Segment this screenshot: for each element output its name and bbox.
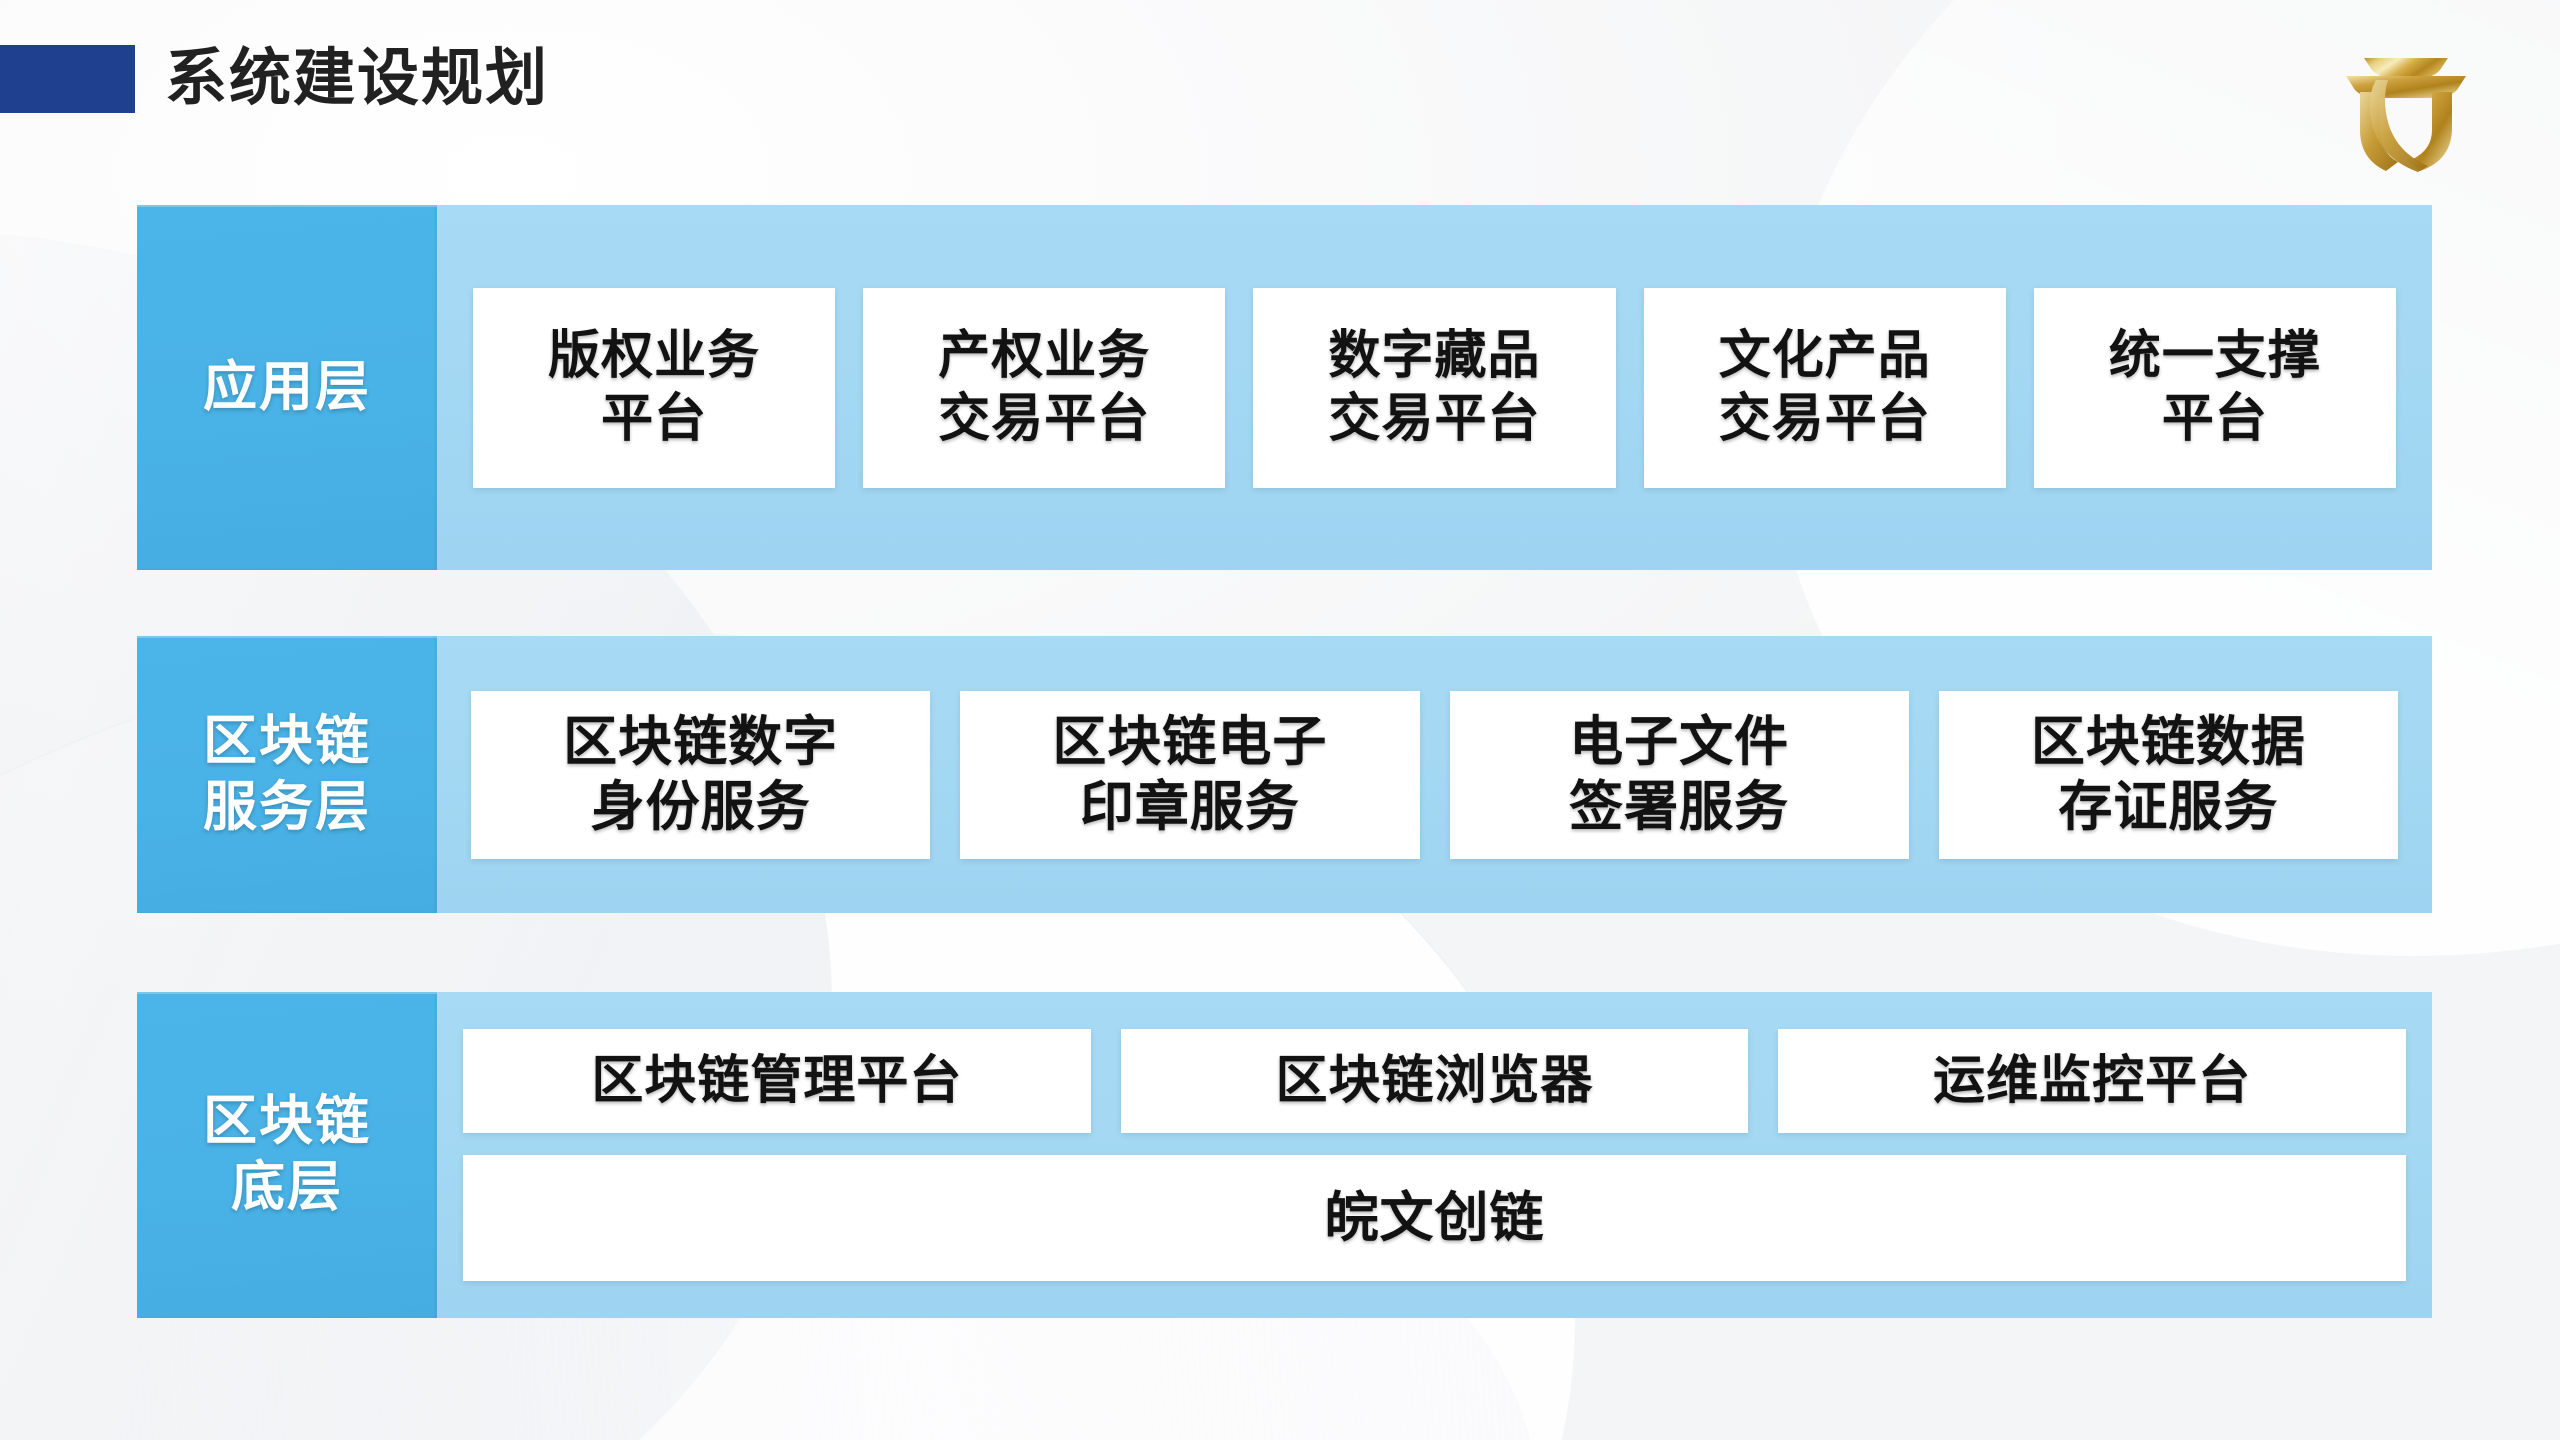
layer-label-blockchain-base-text: 区块链 底层 [203, 1089, 371, 1221]
card-label: 区块链管理平台 [591, 1050, 962, 1112]
card-label: 文化产品 交易平台 [1719, 325, 1931, 450]
page-title: 系统建设规划 [165, 36, 549, 122]
blockchain-base-tools-row: 区块链管理平台 区块链浏览器 运维监控平台 [463, 1029, 2406, 1133]
slide-canvas: 系统建设规划 [0, 0, 2560, 1440]
card-ops-monitoring-platform[interactable]: 运维监控平台 [1778, 1029, 2406, 1133]
card-label: 数字藏品 交易平台 [1329, 325, 1541, 450]
card-blockchain-data-evidence-service[interactable]: 区块链数据 存证服务 [1939, 691, 2398, 859]
card-label: 电子文件 签署服务 [1569, 710, 1789, 840]
card-label: 区块链数字 身份服务 [563, 710, 838, 840]
layer-row-blockchain-base: 区块链 底层 区块链管理平台 区块链浏览器 运维监控平台 皖文创链 [137, 992, 2432, 1318]
card-label: 运维监控平台 [1933, 1050, 2251, 1112]
card-label: 区块链浏览器 [1276, 1050, 1594, 1112]
card-digital-collection-trading-platform[interactable]: 数字藏品 交易平台 [1253, 288, 1615, 488]
card-blockchain-digital-identity-service[interactable]: 区块链数字 身份服务 [471, 691, 930, 859]
card-label: 统一支撑 平台 [2109, 325, 2321, 450]
card-cultural-product-trading-platform[interactable]: 文化产品 交易平台 [1644, 288, 2006, 488]
layer-row-application: 应用层 版权业务 平台 产权业务 交易平台 数字藏品 交易平台 文化产品 交易平… [137, 205, 2432, 570]
title-marker [0, 45, 135, 113]
layer-label-blockchain-service-text: 区块链 服务层 [203, 709, 371, 841]
slide-header: 系统建设规划 [0, 0, 2560, 185]
card-label: 版权业务 平台 [548, 325, 760, 450]
company-gold-emblem-icon [2336, 26, 2476, 172]
card-label: 皖文创链 [1325, 1186, 1545, 1251]
card-property-rights-trading-platform[interactable]: 产权业务 交易平台 [863, 288, 1225, 488]
card-label: 区块链数据 存证服务 [2031, 710, 2306, 840]
card-wanwenchuang-chain[interactable]: 皖文创链 [463, 1155, 2406, 1281]
layer-label-application: 应用层 [137, 205, 437, 570]
card-label: 产权业务 交易平台 [938, 325, 1150, 450]
layer-label-blockchain-service: 区块链 服务层 [137, 636, 437, 913]
layer-body-application: 版权业务 平台 产权业务 交易平台 数字藏品 交易平台 文化产品 交易平台 统一… [437, 205, 2432, 570]
layer-body-blockchain-base: 区块链管理平台 区块链浏览器 运维监控平台 皖文创链 [437, 992, 2432, 1318]
card-blockchain-explorer[interactable]: 区块链浏览器 [1121, 1029, 1749, 1133]
layer-label-application-text: 应用层 [203, 355, 371, 421]
card-blockchain-electronic-seal-service[interactable]: 区块链电子 印章服务 [960, 691, 1419, 859]
blockchain-base-chain-row: 皖文创链 [463, 1155, 2406, 1281]
layer-row-blockchain-service: 区块链 服务层 区块链数字 身份服务 区块链电子 印章服务 电子文件 签署服务 … [137, 636, 2432, 913]
layer-body-blockchain-service: 区块链数字 身份服务 区块链电子 印章服务 电子文件 签署服务 区块链数据 存证… [437, 636, 2432, 913]
layer-label-blockchain-base: 区块链 底层 [137, 992, 437, 1318]
architecture-diagram: 应用层 版权业务 平台 产权业务 交易平台 数字藏品 交易平台 文化产品 交易平… [137, 205, 2432, 1318]
card-label: 区块链电子 印章服务 [1052, 710, 1327, 840]
card-blockchain-management-platform[interactable]: 区块链管理平台 [463, 1029, 1091, 1133]
card-electronic-file-signing-service[interactable]: 电子文件 签署服务 [1450, 691, 1909, 859]
card-copyright-business-platform[interactable]: 版权业务 平台 [473, 288, 835, 488]
card-unified-support-platform[interactable]: 统一支撑 平台 [2034, 288, 2396, 488]
